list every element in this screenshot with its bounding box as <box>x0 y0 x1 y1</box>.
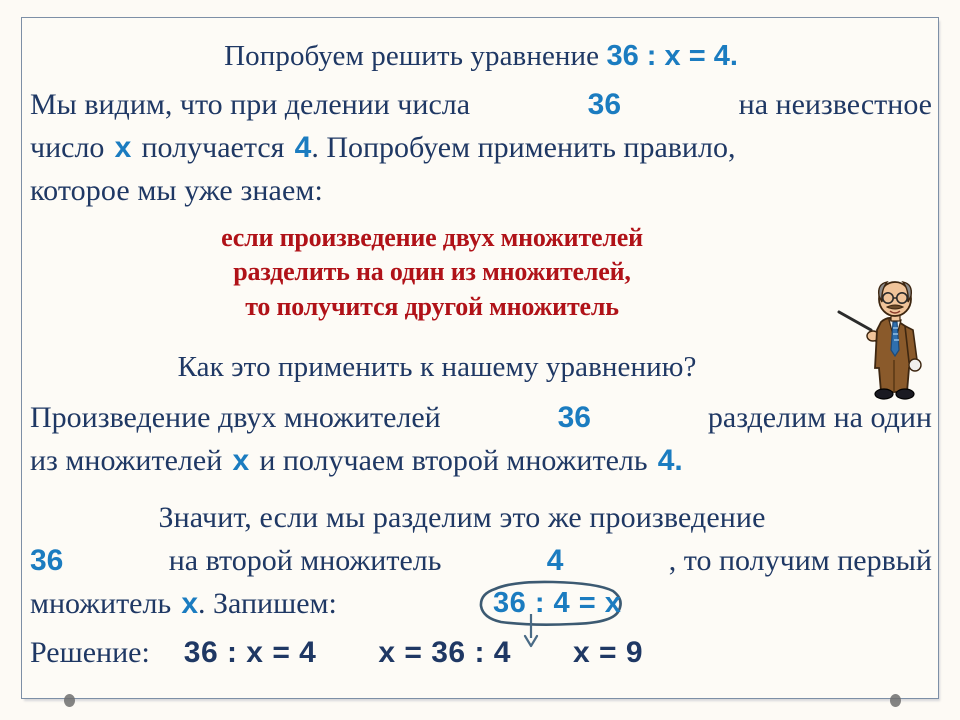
rule-statement: если произведение двух множителей раздел… <box>22 221 842 324</box>
solution-step-3: x = 9 <box>573 636 643 670</box>
solution-row: Решение: 36 : x = 4 x = 36 : 4 x = 9 <box>30 636 930 670</box>
slide-content: Попробуем решить уравнение 36 : x = 4. М… <box>22 18 940 700</box>
paragraph3-line2: 36 на второй множитель 4 , то получим пе… <box>30 546 932 576</box>
p2-l2-number: 4 <box>658 446 675 476</box>
decorative-dot-right <box>890 694 901 707</box>
p2-l1-text-b: разделим на один <box>708 403 932 433</box>
p2-l2-variable: x <box>232 446 249 476</box>
p1-l1-text-a: Мы видим, что при делении числа <box>30 90 470 120</box>
decorative-dot-left <box>64 694 75 707</box>
teacher-illustration <box>837 268 943 400</box>
p3-l2-number2: 4 <box>547 546 564 576</box>
p3-l3-variable: x <box>181 589 198 619</box>
p1-l1-number: 36 <box>588 90 621 120</box>
p2-l2-text-c: . <box>674 446 682 476</box>
solution-label: Решение: <box>30 636 150 670</box>
p1-l1-text-b: на неизвестное <box>739 90 932 120</box>
p1-l2-text-b: получается <box>142 133 285 163</box>
paragraph1-line1: Мы видим, что при делении числа 36 на не… <box>30 90 932 120</box>
paragraph1-line2: число x получается 4 . Попробуем примени… <box>30 133 932 163</box>
circled-expression-text: 36 : 4 = x <box>493 587 621 620</box>
p3-l3-text-a: множитель <box>30 589 171 619</box>
p3-l2-number1: 36 <box>30 546 63 576</box>
p3-l2-text-a: на второй множитель <box>169 546 442 576</box>
solution-step-2: x = 36 : 4 <box>378 636 511 670</box>
paragraph1-line3: которое мы уже знаем: <box>30 176 932 206</box>
rule-line-1: если произведение двух множителей <box>22 221 842 255</box>
paragraph2-line2: из множителей x и получаем второй множит… <box>30 446 932 476</box>
title-text: Попробуем решить уравнение <box>224 40 606 72</box>
p1-l2-text-a: число <box>30 133 104 163</box>
p2-l2-text-b: и получаем второй множитель <box>259 446 647 476</box>
rule-line-3: то получится другой множитель <box>22 290 842 324</box>
slide-frame: Попробуем решить уравнение 36 : x = 4. М… <box>21 17 939 699</box>
p3-l3-text-b: . Запишем: <box>198 589 337 619</box>
p3-l2-text-b: , то получим первый <box>669 546 932 576</box>
teacher-figure-icon <box>837 268 943 400</box>
p1-l2-text-c: . Попробуем применить правило, <box>311 133 735 163</box>
circled-expression: 36 : 4 = x <box>475 580 631 628</box>
p1-l2-number: 4 <box>295 133 312 163</box>
page-title: Попробуем решить уравнение 36 : x = 4. <box>22 40 940 73</box>
title-equation: 36 : x = 4. <box>606 40 737 72</box>
solution-step-1: 36 : x = 4 <box>184 636 317 670</box>
p2-l1-number: 36 <box>558 403 591 433</box>
paragraph2-line1: Произведение двух множителей 36 разделим… <box>30 403 932 433</box>
p2-l1-text-a: Произведение двух множителей <box>30 403 441 433</box>
paragraph3-line1: Значит, если мы разделим это же произвед… <box>22 503 902 533</box>
question-line: Как это применить к нашему уравнению? <box>22 351 852 384</box>
p2-l2-text-a: из множителей <box>30 446 222 476</box>
p1-l2-variable: x <box>115 133 132 163</box>
slide-canvas: Попробуем решить уравнение 36 : x = 4. М… <box>0 0 960 720</box>
rule-line-2: разделить на один из множителей, <box>22 255 842 289</box>
